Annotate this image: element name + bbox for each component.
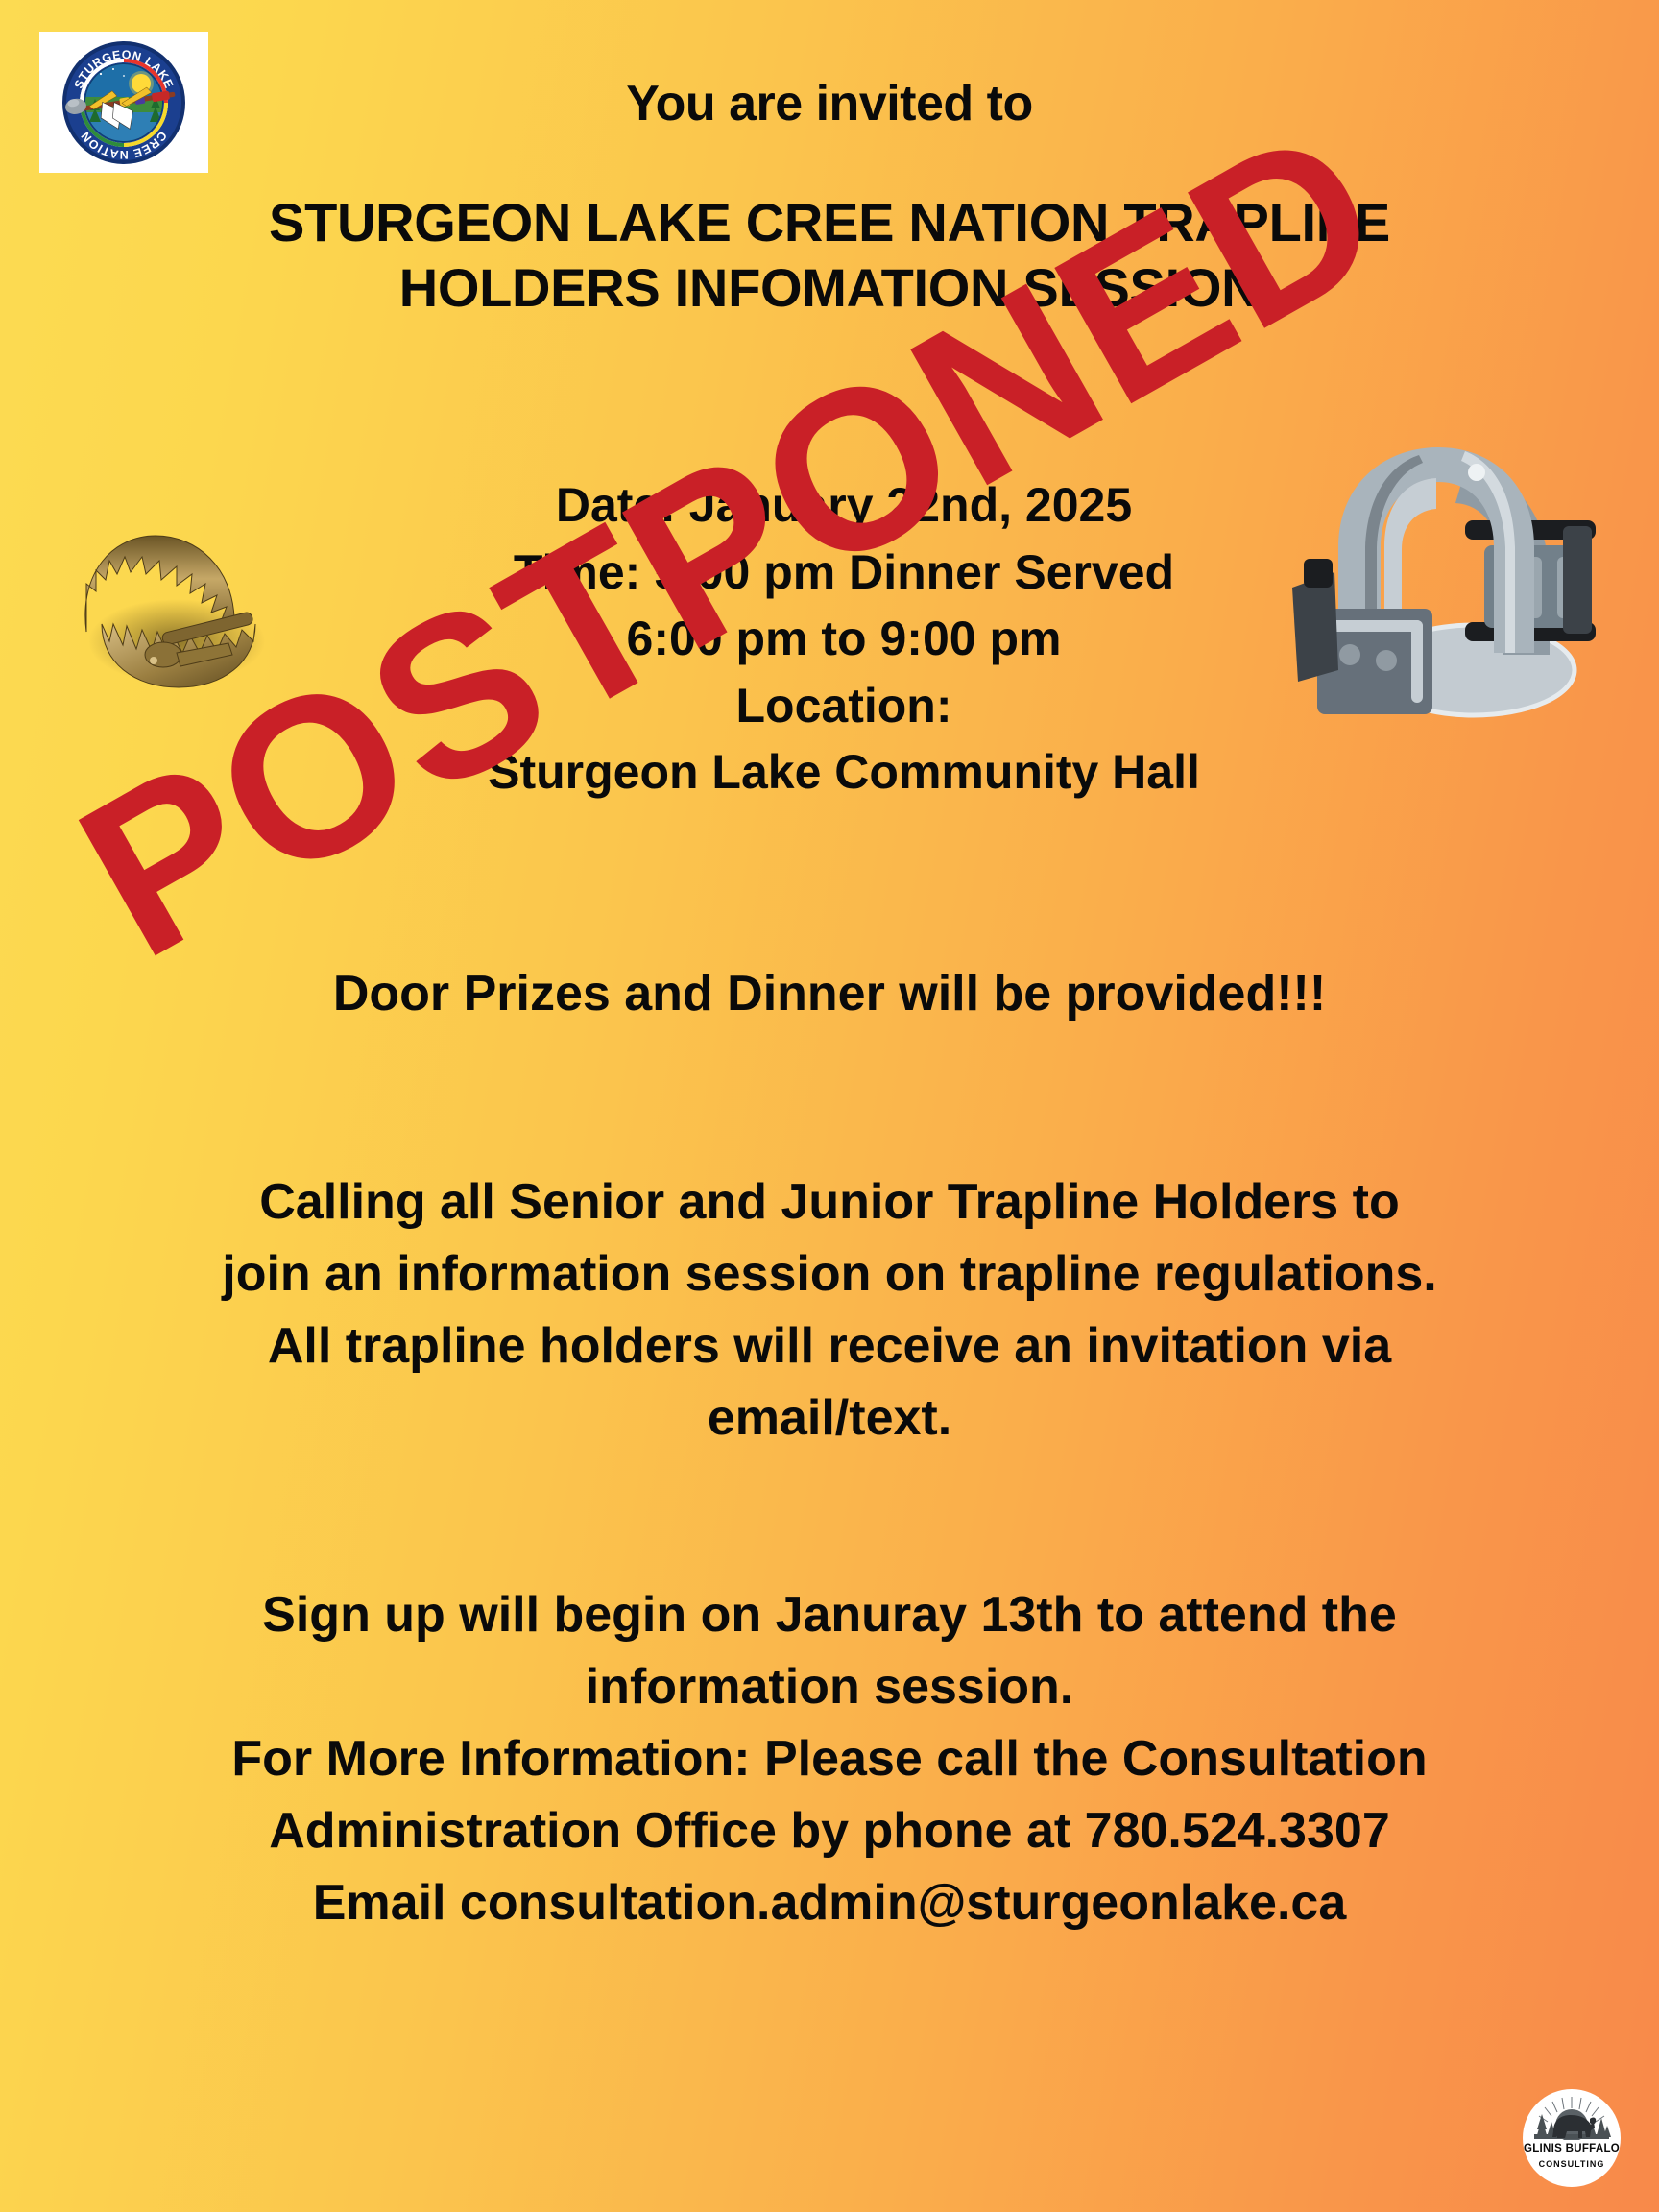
contact-info-line: For More Information: Please call the Co… <box>101 1723 1558 1795</box>
invite-paragraph: Calling all Senior and Junior Trapline H… <box>101 1166 1558 1455</box>
contact-email-line: Email consultation.admin@sturgeonlake.ca <box>101 1867 1558 1939</box>
signup-paragraph-line: information session. <box>101 1651 1558 1723</box>
signup-paragraph: Sign up will begin on Januray 13th to at… <box>101 1579 1558 1938</box>
invite-paragraph-line: All trapline holders will receive an inv… <box>101 1310 1558 1382</box>
signup-paragraph-line: Sign up will begin on Januray 13th to at… <box>101 1579 1558 1651</box>
door-prizes-line: Door Prizes and Dinner will be provided!… <box>0 965 1659 1022</box>
invite-paragraph-line: join an information session on trapline … <box>101 1238 1558 1310</box>
invite-paragraph-line: Calling all Senior and Junior Trapline H… <box>101 1166 1558 1238</box>
buffalo-logo-icon: GLINIS BUFFALO CONSULTING <box>1521 2087 1623 2189</box>
invite-paragraph-line: email/text. <box>101 1382 1558 1455</box>
glinis-buffalo-consulting-logo: GLINIS BUFFALO CONSULTING <box>1521 2087 1623 2189</box>
footer-logo-line-2: CONSULTING <box>1539 2159 1605 2169</box>
contact-phone-line: Administration Office by phone at 780.52… <box>101 1795 1558 1867</box>
footer-logo-line-1: GLINIS BUFFALO <box>1524 2143 1620 2154</box>
